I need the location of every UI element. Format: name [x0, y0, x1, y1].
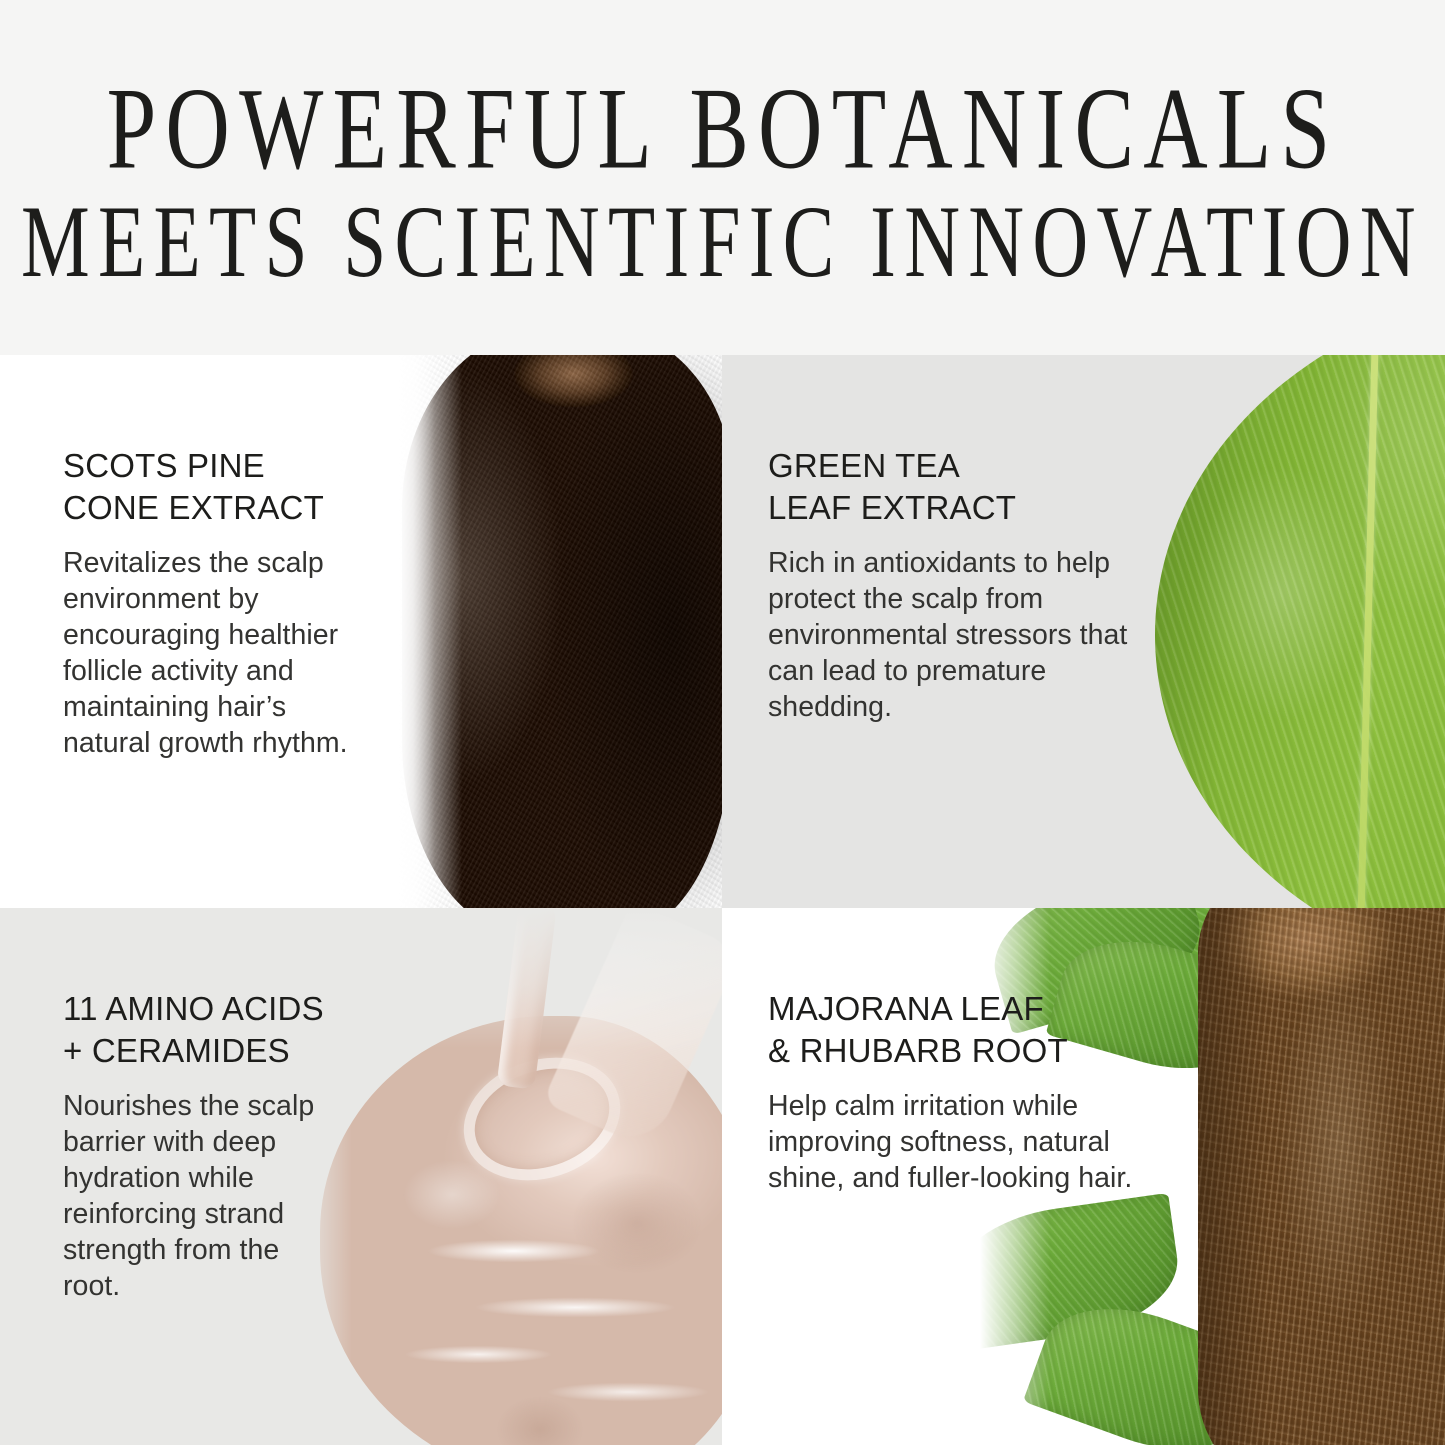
- rhubarb-root-shading: [1198, 908, 1445, 1445]
- ingredient-card-amino-acids: 11 AMINO ACIDS + CERAMIDES Nourishes the…: [0, 908, 722, 1445]
- green-tea-body: Rich in antioxidants to help protect the…: [768, 546, 1128, 726]
- pine-cone-edge-fade: [392, 355, 462, 908]
- gel-top-fade: [292, 908, 722, 1048]
- ingredient-grid: SCOTS PINE CONE EXTRACT Revitalizes the …: [0, 355, 1445, 1445]
- amino-acids-body: Nourishes the scalp barrier with deep hy…: [63, 1089, 343, 1304]
- amino-acids-heading: 11 AMINO ACIDS + CERAMIDES: [63, 988, 343, 1071]
- page-title-line-1: POWERFUL BOTANICALS: [106, 70, 1339, 186]
- ingredient-card-majorana-rhubarb: MAJORANA LEAF & RHUBARB ROOT Help calm i…: [722, 908, 1445, 1445]
- infographic-page: POWERFUL BOTANICALS MEETS SCIENTIFIC INN…: [0, 0, 1445, 1445]
- ingredient-card-green-tea: GREEN TEA LEAF EXTRACT Rich in antioxida…: [722, 355, 1445, 908]
- green-tea-text-block: GREEN TEA LEAF EXTRACT Rich in antioxida…: [768, 445, 1128, 726]
- scots-pine-text-block: SCOTS PINE CONE EXTRACT Revitalizes the …: [63, 445, 363, 762]
- scots-pine-body: Revitalizes the scalp environment by enc…: [63, 546, 363, 761]
- green-leaf-image: [1115, 355, 1445, 908]
- leaf-highlight: [1155, 355, 1445, 908]
- page-title-line-2: MEETS SCIENTIFIC INNOVATION: [21, 192, 1424, 294]
- majorana-text-block: MAJORANA LEAF & RHUBARB ROOT Help calm i…: [768, 988, 1158, 1197]
- majorana-heading: MAJORANA LEAF & RHUBARB ROOT: [768, 988, 1158, 1071]
- pine-cone-image: [392, 355, 722, 908]
- green-tea-heading: GREEN TEA LEAF EXTRACT: [768, 445, 1128, 528]
- scots-pine-heading: SCOTS PINE CONE EXTRACT: [63, 445, 363, 528]
- ingredient-card-scots-pine: SCOTS PINE CONE EXTRACT Revitalizes the …: [0, 355, 722, 908]
- gel-serum-image: [292, 908, 722, 1445]
- majorana-body: Help calm irritation while improving sof…: [768, 1089, 1158, 1197]
- amino-acids-text-block: 11 AMINO ACIDS + CERAMIDES Nourishes the…: [63, 988, 343, 1305]
- header-banner: POWERFUL BOTANICALS MEETS SCIENTIFIC INN…: [0, 0, 1445, 355]
